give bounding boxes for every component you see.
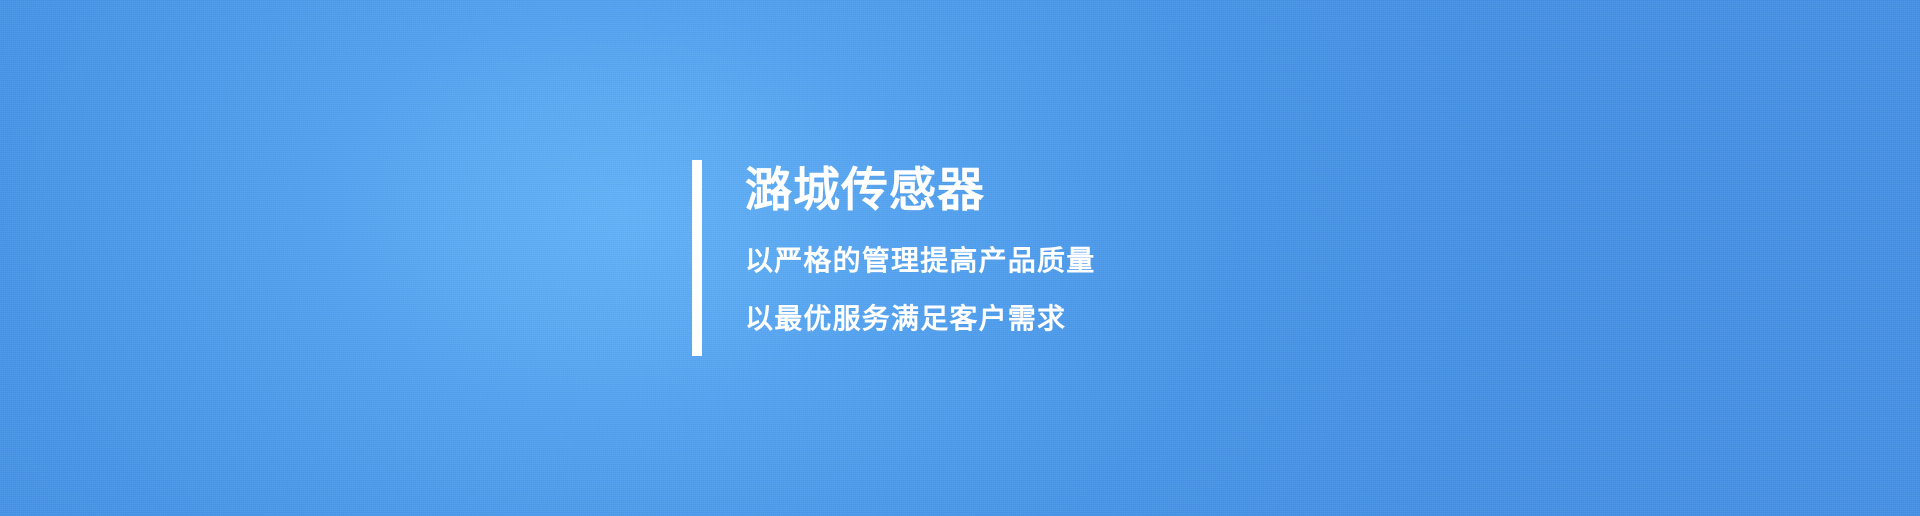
hero-subtitle-list: 以严格的管理提高产品质量 以最优服务满足客户需求 — [745, 213, 1095, 333]
vertical-accent-bar — [692, 160, 702, 356]
hero-content-block: 潞城传感器 以严格的管理提高产品质量 以最优服务满足客户需求 — [692, 160, 1095, 356]
hero-text-group: 潞城传感器 以严格的管理提高产品质量 以最优服务满足客户需求 — [702, 160, 1095, 356]
page-title: 潞城传感器 — [745, 160, 1095, 213]
hero-banner: 潞城传感器 以严格的管理提高产品质量 以最优服务满足客户需求 — [0, 0, 1920, 516]
hero-subtitle-line-1: 以严格的管理提高产品质量 — [745, 247, 1095, 275]
hero-subtitle-line-2: 以最优服务满足客户需求 — [745, 305, 1095, 333]
